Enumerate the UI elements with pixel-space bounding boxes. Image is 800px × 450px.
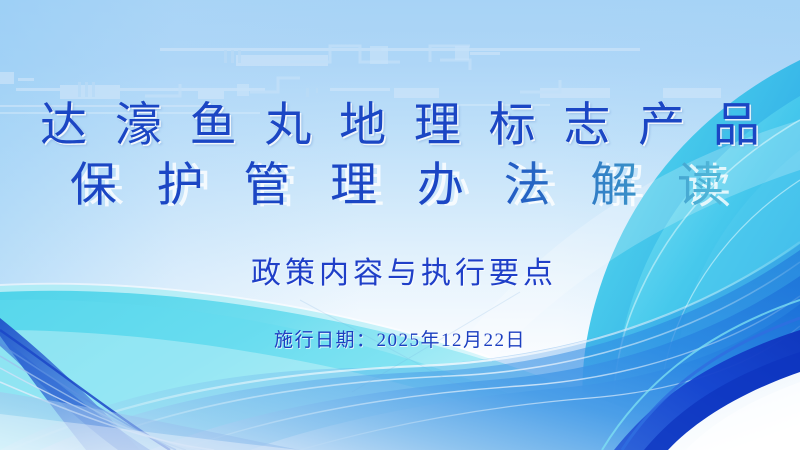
slide-content: 达 濠 鱼 丸 地 理 标 志 产 品 保 护 管 理 办 法 解 读 保 护 … — [0, 0, 800, 450]
title-line-2-wrapper: 保 护 管 理 办 法 解 读 保 护 管 理 办 法 解 读 — [0, 156, 800, 216]
subtitle: 政策内容与执行要点 — [0, 248, 800, 292]
title-line-2: 保 护 管 理 办 法 解 读 — [0, 156, 800, 216]
effective-date-line: 施行日期：2025年12月22日 — [0, 325, 800, 352]
title-block: 达 濠 鱼 丸 地 理 标 志 产 品 保 护 管 理 办 法 解 读 保 护 … — [0, 96, 800, 216]
title-slide: 达 濠 鱼 丸 地 理 标 志 产 品 保 护 管 理 办 法 解 读 保 护 … — [0, 0, 800, 450]
title-line-1: 达 濠 鱼 丸 地 理 标 志 产 品 — [0, 96, 800, 156]
